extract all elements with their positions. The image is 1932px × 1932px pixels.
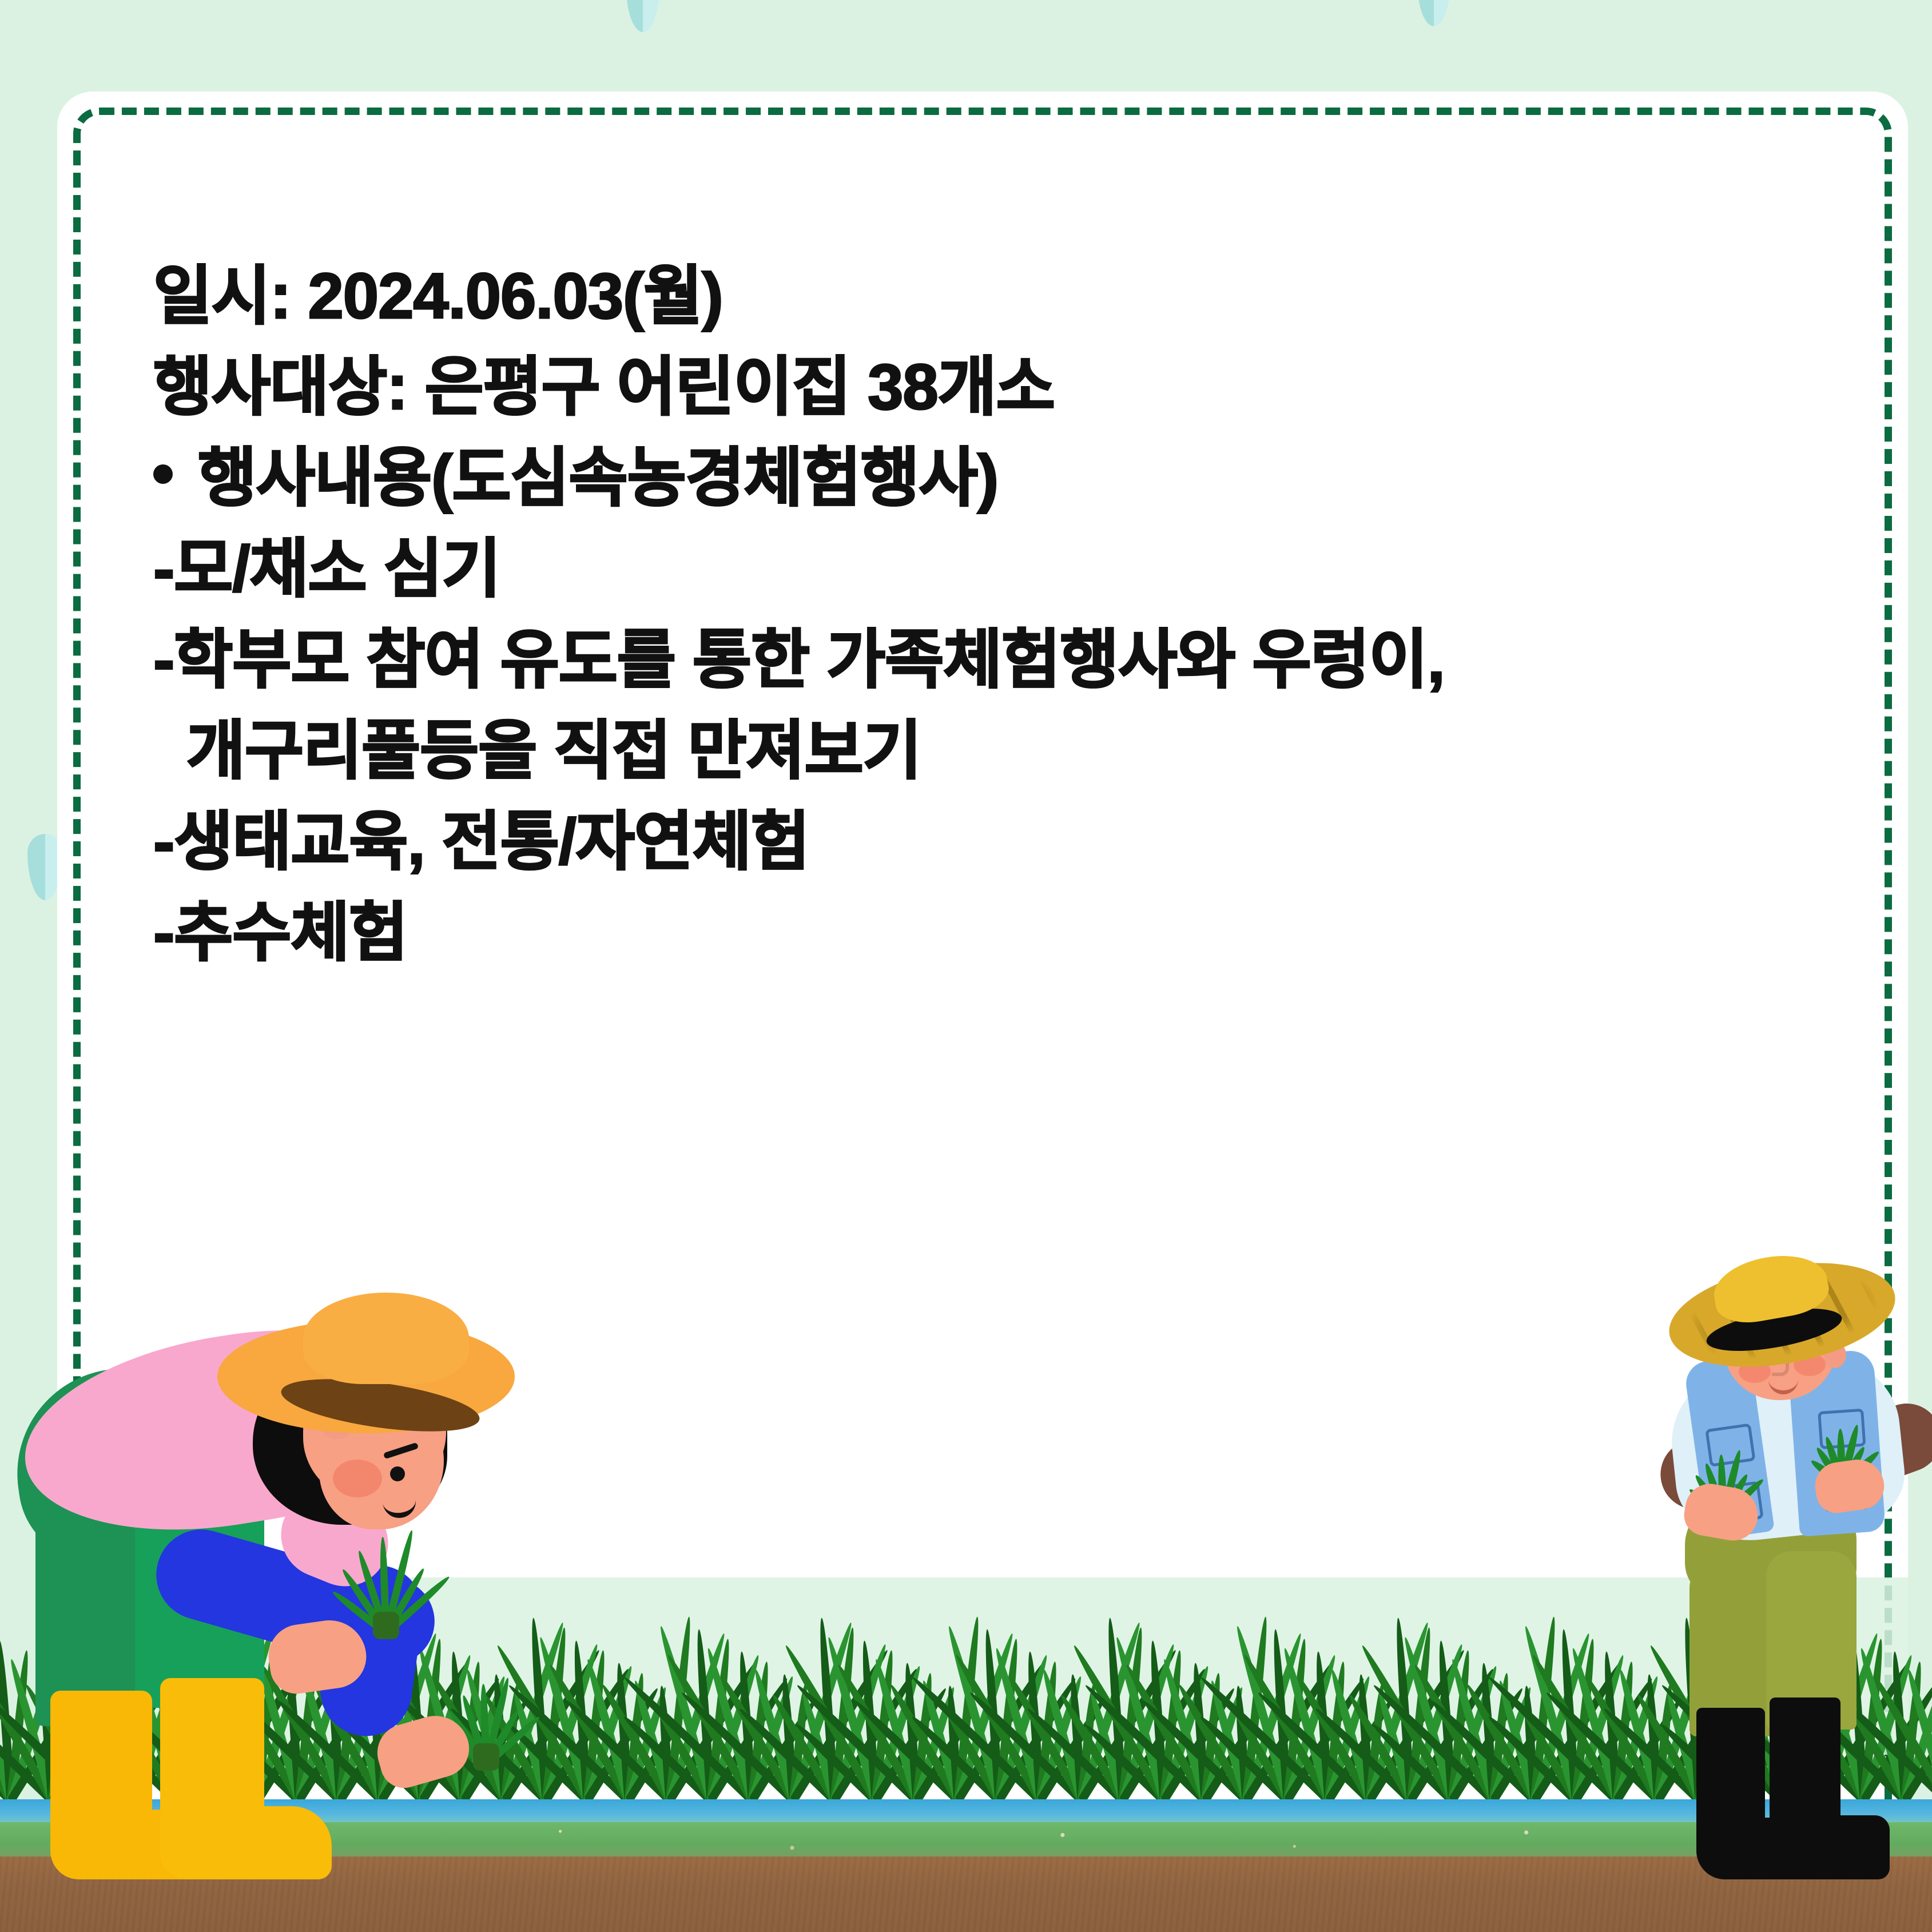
- rice-seedling-icon: [337, 1525, 435, 1633]
- left-farmer-illustration: [0, 1279, 526, 1879]
- left-farmer-straw-hat-crown: [303, 1293, 469, 1384]
- detail-text: 행사내용(도심속농경체험행사): [198, 432, 998, 523]
- detail-line-date: 일시: 2024.06.03(월): [153, 251, 1863, 341]
- left-farmer-boot-front-foot: [160, 1806, 332, 1879]
- seedling-root-bundle: [473, 1743, 499, 1771]
- detail-text: -추수체험: [153, 897, 407, 968]
- detail-line-program-heading: 행사내용(도심속농경체험행사): [153, 432, 1863, 523]
- detail-line-item-2-continued: 개구리풀등을 직접 만져보기: [153, 705, 1863, 796]
- left-farmer-eye: [390, 1466, 405, 1481]
- detail-text: 개구리풀등을 직접 만져보기: [186, 715, 921, 786]
- detail-line-audience: 행사대상: 은평구 어린이집 38개소: [153, 341, 1863, 432]
- detail-line-item-4: -추수체험: [153, 887, 1863, 978]
- detail-line-item-1: -모/채소 심기: [153, 523, 1863, 614]
- event-details-block: 일시: 2024.06.03(월) 행사대상: 은평구 어린이집 38개소 행사…: [153, 251, 1863, 978]
- poster-canvas: 일시: 2024.06.03(월) 행사대상: 은평구 어린이집 38개소 행사…: [0, 0, 1932, 1932]
- right-farmer-illustration: [1605, 1262, 1925, 1879]
- seedling-root-bundle: [373, 1612, 399, 1639]
- detail-text: -학부모 참여 유도를 통한 가족체험행사와 우렁이,: [153, 624, 1445, 695]
- detail-text: 일시: 2024.06.03(월): [153, 260, 723, 332]
- left-farmer-cheek: [333, 1460, 382, 1497]
- detail-text: -모/채소 심기: [153, 533, 500, 605]
- detail-line-item-3: -생태교육, 전통/자연체험: [153, 796, 1863, 887]
- detail-line-item-2: -학부모 참여 유도를 통한 가족체험행사와 우렁이,: [153, 614, 1863, 705]
- detail-text: 행사대상: 은평구 어린이집 38개소: [153, 351, 1055, 423]
- detail-text: -생태교육, 전통/자연체험: [153, 806, 809, 877]
- rice-tuft: [1924, 1612, 1932, 1800]
- bullet-dot-icon: [153, 464, 173, 484]
- right-farmer-boot-front-foot: [1770, 1815, 1890, 1879]
